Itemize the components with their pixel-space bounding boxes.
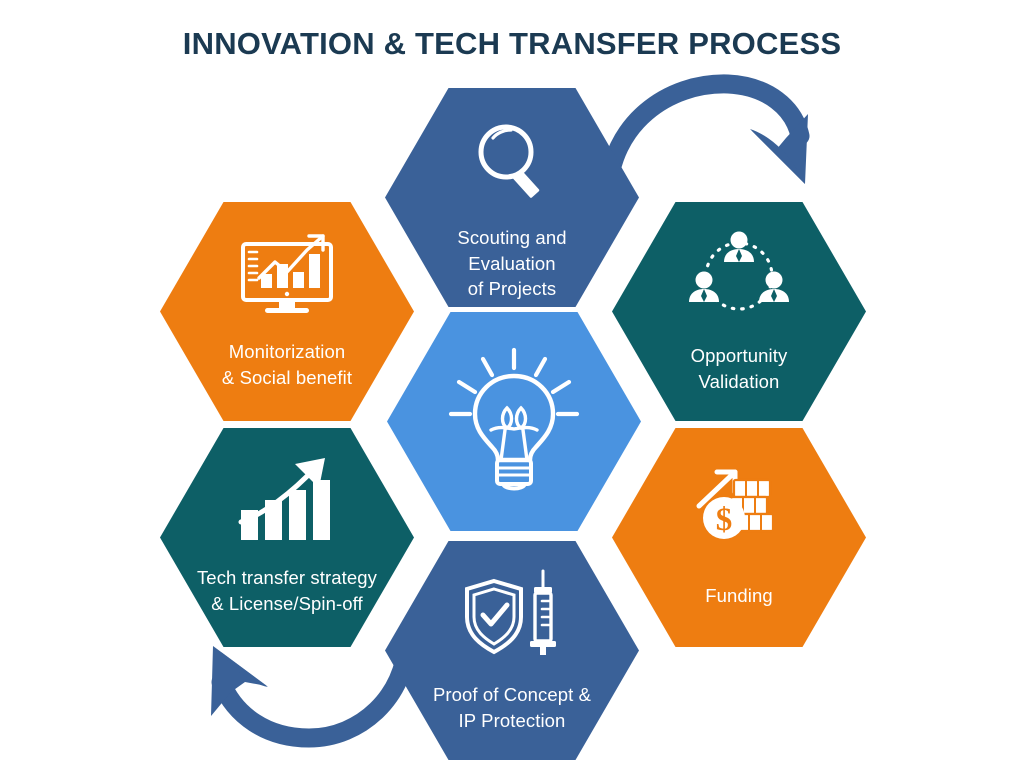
- infographic-canvas: INNOVATION & TECH TRANSFER PROCESS Scout…: [0, 0, 1024, 768]
- lightbulb-icon: [445, 346, 583, 501]
- hex-step-techtransfer[interactable]: Tech transfer strategy & License/Spin-of…: [160, 428, 414, 647]
- svg-text:$: $: [716, 502, 733, 538]
- hex-label-funding: Funding: [705, 583, 773, 609]
- hex-step-poc[interactable]: Proof of Concept & IP Protection: [385, 541, 639, 760]
- monitor-chart-icon: [235, 228, 339, 325]
- money-growth-icon: $: [691, 460, 787, 557]
- shield-syringe-icon: [457, 569, 567, 666]
- hex-label-poc: Proof of Concept & IP Protection: [433, 682, 591, 733]
- hex-step-funding[interactable]: $ Funding: [612, 428, 866, 647]
- bar-chart-arrow-icon: [235, 454, 339, 551]
- curved-arrow-left-up-icon: [205, 638, 415, 758]
- hex-label-monitorization: Monitorization & Social benefit: [222, 339, 352, 390]
- hex-label-scouting: Scouting and Evaluation of Projects: [457, 225, 566, 302]
- hex-label-opportunity: Opportunity Validation: [691, 343, 788, 394]
- hex-label-techtransfer: Tech transfer strategy & License/Spin-of…: [197, 565, 377, 616]
- page-title: INNOVATION & TECH TRANSFER PROCESS: [0, 26, 1024, 62]
- hex-step-monitorization[interactable]: Monitorization & Social benefit: [160, 202, 414, 421]
- people-network-icon: [684, 228, 794, 325]
- hex-center-idea[interactable]: [387, 312, 641, 531]
- hex-step-opportunity[interactable]: Opportunity Validation: [612, 202, 866, 421]
- magnifier-icon: [466, 116, 558, 213]
